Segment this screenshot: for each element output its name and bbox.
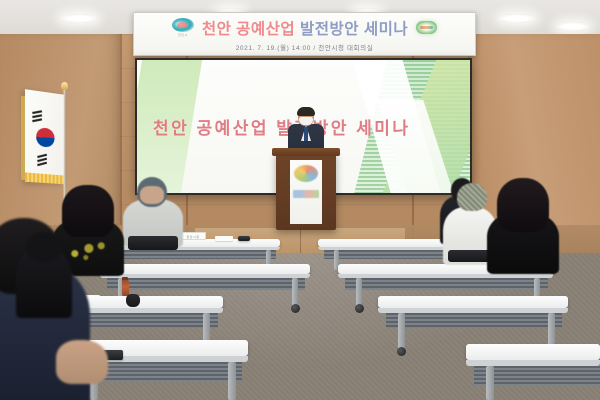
speaker-tie	[304, 127, 308, 141]
hoodie-yellow-print	[66, 238, 110, 264]
trigram-bar	[32, 114, 42, 117]
stage-seam	[300, 228, 301, 254]
name-plate-text: 천안시청	[181, 233, 205, 241]
banner-title-part-b: 발전방안 세미나	[300, 21, 408, 38]
ceiling-downlight	[60, 14, 98, 23]
smartphone	[238, 236, 250, 241]
banner-subtitle: 2021. 7. 19.(월) 14:00 / 천안시청 대회의실	[236, 42, 374, 52]
bag-on-floor	[126, 294, 140, 307]
south-korea-flag-icon	[25, 89, 64, 182]
trigram-bar	[32, 110, 42, 113]
podium-lectern	[276, 152, 336, 230]
seminar-room-photo: 천안시 천안 공예산업 발전방안 세미나 2021. 7. 19.(월) 14:…	[0, 0, 600, 400]
ceiling-downlight	[556, 22, 590, 31]
trigram-bar	[37, 162, 47, 166]
flag-finial	[61, 82, 68, 90]
banner-logo-left-caption: 천안시	[178, 33, 187, 37]
foreground-arm	[56, 340, 108, 384]
name-plate: 천안시청	[180, 232, 206, 240]
ceiling-downlight	[498, 14, 536, 23]
chair-back	[448, 250, 492, 262]
podium-front-panel	[290, 160, 322, 224]
podium-emblem-text	[293, 190, 319, 198]
chair-back	[128, 236, 178, 250]
craft-association-emblem-icon	[416, 21, 437, 34]
cheonan-city-emblem-icon	[172, 18, 194, 32]
speaker-hair	[297, 107, 315, 116]
handout-papers	[215, 236, 233, 241]
event-banner: 천안시 천안 공예산업 발전방안 세미나 2021. 7. 19.(월) 14:…	[133, 12, 476, 56]
banner-title-part-a: 천안 공예산업	[202, 21, 295, 38]
podium-top	[272, 148, 340, 156]
trigram-bar	[32, 118, 42, 121]
podium-emblem-icon	[294, 165, 318, 182]
taeguk-symbol	[36, 127, 54, 147]
